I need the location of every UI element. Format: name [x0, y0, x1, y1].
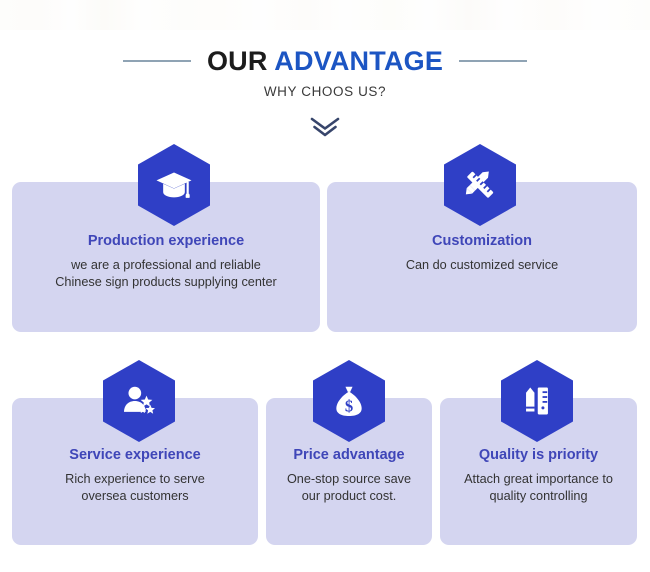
- advantage-card-text: Can do customized service: [337, 257, 627, 274]
- advantage-card-body: Quality is priority Attach great importa…: [440, 446, 637, 505]
- advantage-card-text-line: quality controlling: [450, 488, 627, 505]
- section-header: OUR ADVANTAGE WHY CHOOS US?: [0, 44, 650, 139]
- title-rule-right: [459, 60, 527, 62]
- advantage-card-text-line: Rich experience to serve: [22, 471, 248, 488]
- advantage-card-text-line: One-stop source save: [276, 471, 422, 488]
- money-bag-dollar-icon: $: [330, 382, 368, 420]
- page-title-prefix: OUR: [207, 46, 274, 76]
- top-texture-strip: [0, 0, 650, 30]
- advantage-card-text: we are a professional and reliable Chine…: [22, 257, 310, 291]
- advantage-card-customization[interactable]: Customization Can do customized service: [327, 182, 637, 332]
- person-with-stars-icon: [119, 381, 159, 421]
- advantage-card-title: Quality is priority: [450, 446, 627, 464]
- advantage-card-price-advantage[interactable]: $ Price advantage One-stop source save o…: [266, 398, 432, 545]
- advantage-card-body: Service experience Rich experience to se…: [12, 446, 258, 505]
- advantage-card-body: Price advantage One-stop source save our…: [266, 446, 432, 505]
- title-rule-left: [123, 60, 191, 62]
- page-title: OUR ADVANTAGE: [207, 46, 443, 76]
- advantage-card-text-line: Chinese sign products supplying center: [22, 274, 310, 291]
- graduation-cap-badge: [138, 144, 210, 226]
- advantage-card-title: Service experience: [22, 446, 248, 464]
- graduation-cap-icon: [154, 165, 194, 205]
- advantage-card-text-line: our product cost.: [276, 488, 422, 505]
- money-bag-badge: $: [313, 360, 385, 442]
- double-chevron-down-icon: [308, 117, 342, 139]
- advantage-card-title: Production experience: [22, 232, 310, 250]
- advantage-row-top: Production experience we are a professio…: [12, 182, 637, 332]
- pencil-ruler-measure-badge: [501, 360, 573, 442]
- advantage-card-body: Production experience we are a professio…: [12, 232, 320, 291]
- pencil-ruler-cross-icon: [460, 165, 500, 205]
- advantage-card-text-line: Can do customized service: [337, 257, 627, 274]
- advantage-card-text: Rich experience to serve oversea custome…: [22, 471, 248, 505]
- advantage-card-text-line: oversea customers: [22, 488, 248, 505]
- advantage-card-body: Customization Can do customized service: [327, 232, 637, 274]
- pencil-ruler-cross-badge: [444, 144, 516, 226]
- advantage-card-text-line: we are a professional and reliable: [22, 257, 310, 274]
- page-subtitle: WHY CHOOS US?: [0, 84, 650, 99]
- page-title-row: OUR ADVANTAGE: [0, 44, 650, 78]
- person-with-stars-badge: [103, 360, 175, 442]
- advantage-card-text: One-stop source save our product cost.: [276, 471, 422, 505]
- scroll-hint: [0, 117, 650, 139]
- advantage-card-title: Price advantage: [276, 446, 422, 464]
- advantage-card-title: Customization: [337, 232, 627, 250]
- advantage-card-text: Attach great importance to quality contr…: [450, 471, 627, 505]
- advantage-card-text-line: Attach great importance to: [450, 471, 627, 488]
- page-title-accent: ADVANTAGE: [274, 46, 443, 76]
- advantage-row-bottom: Service experience Rich experience to se…: [12, 398, 637, 545]
- advantage-card-service-experience[interactable]: Service experience Rich experience to se…: [12, 398, 258, 545]
- advantage-card-production-experience[interactable]: Production experience we are a professio…: [12, 182, 320, 332]
- svg-text:$: $: [345, 396, 353, 415]
- pencil-ruler-measure-icon: [519, 382, 555, 420]
- advantage-card-quality-priority[interactable]: Quality is priority Attach great importa…: [440, 398, 637, 545]
